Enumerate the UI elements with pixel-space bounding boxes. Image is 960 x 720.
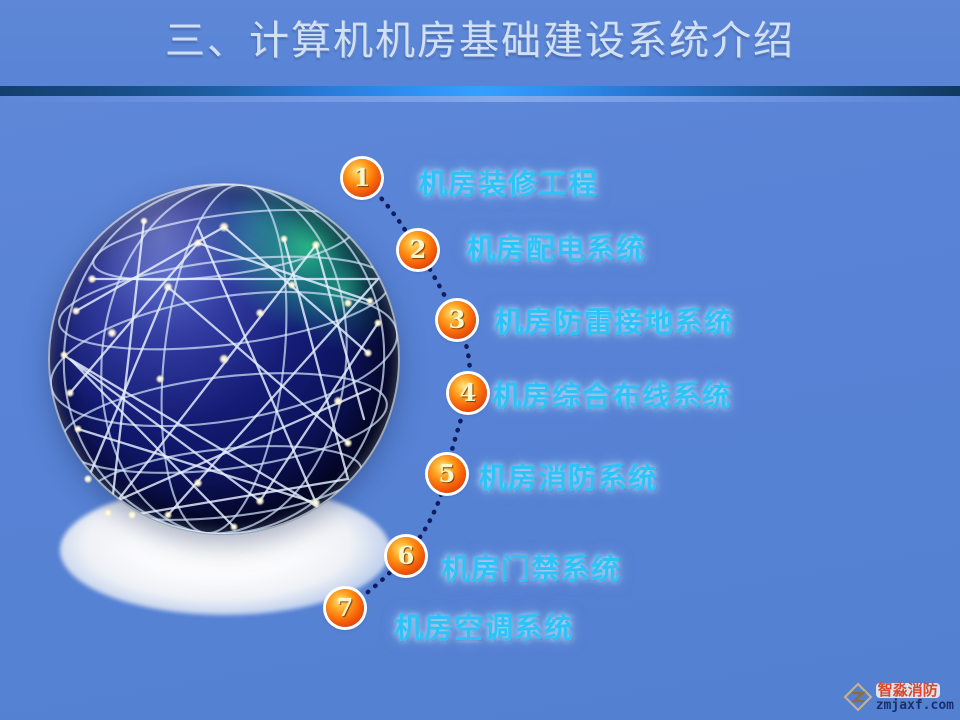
bullet-number-7-text: 7 [337,596,354,620]
item-label-2[interactable]: 机房配电系统 [466,226,646,268]
item-label-3[interactable]: 机房防雷接地系统 [494,299,734,341]
bullet-number-6[interactable]: 6 [387,537,425,575]
item-label-6[interactable]: 机房门禁系统 [441,546,621,588]
bullet-number-5[interactable]: 5 [428,455,466,493]
item-label-1[interactable]: 机房装修工程 [418,161,598,203]
watermark: 智淼消防 zmjaxf.com [843,682,954,712]
bullet-number-2-text: 2 [410,238,427,262]
item-label-5[interactable]: 机房消防系统 [478,455,658,497]
bullet-number-3[interactable]: 3 [438,301,476,339]
bullet-number-1[interactable]: 1 [343,159,381,197]
slide-canvas: 三、计算机机房基础建设系统介绍 [0,0,960,720]
watermark-text: 智淼消防 zmjaxf.com [876,683,954,712]
brand-logo-icon [843,682,873,712]
bullet-number-7[interactable]: 7 [326,589,364,627]
bullet-number-4-text: 4 [460,381,477,405]
bullet-number-2[interactable]: 2 [399,231,437,269]
bullet-number-3-text: 3 [449,308,466,332]
item-label-4[interactable]: 机房综合布线系统 [492,373,732,415]
watermark-brand: 智淼消防 [876,683,940,698]
bullet-number-1-text: 1 [354,166,371,190]
bullet-number-5-text: 5 [439,462,456,486]
item-label-7[interactable]: 机房空调系统 [394,605,574,647]
watermark-url: zmjaxf.com [876,699,954,712]
bullet-number-6-text: 6 [398,544,415,568]
bullet-number-4[interactable]: 4 [449,374,487,412]
